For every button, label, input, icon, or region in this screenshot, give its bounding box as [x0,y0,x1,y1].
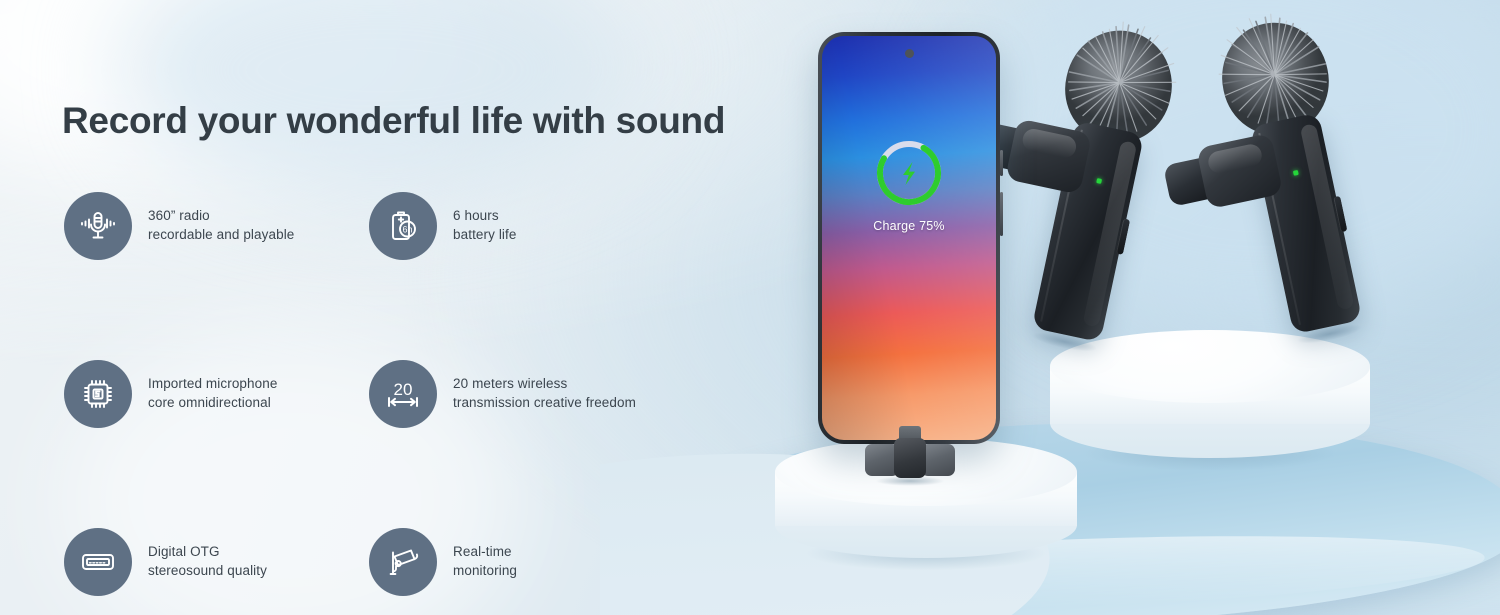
status-led-right [1292,170,1298,176]
feature-line1: Imported microphone [148,376,277,391]
battery-hours-text: 6h [402,224,412,234]
lightning-bolt-icon [903,162,915,185]
feature-line1: 6 hours [453,208,499,223]
phone-screen[interactable]: Charge 75% [822,36,996,440]
phone-button-power[interactable] [1000,192,1003,236]
feature-line2: monitoring [453,562,517,581]
feature-text: Real-time monitoring [453,543,517,580]
distance-meters-text: 20 [394,380,413,399]
front-camera-icon [905,49,914,58]
feature-line2: core omnidirectional [148,394,277,413]
feature-line1: Real-time [453,544,512,559]
battery-6h-icon: 6h [369,192,437,260]
feature-item-imported-microphone: Imported microphone core omnidirectional [64,360,369,428]
feature-text: 6 hours battery life [453,207,516,244]
feature-item-digital-otg: Digital OTG stereosound quality [64,528,369,596]
product-scene: Charge 75% [600,0,1500,615]
receiver-dongle [865,438,955,478]
phone-button-volume[interactable] [1000,150,1003,176]
feature-line2: stereosound quality [148,562,267,581]
charging-indicator: Charge 75% [822,136,996,233]
feature-line1: 360” radio [148,208,210,223]
chip-icon [64,360,132,428]
distance-20m-icon: 20 [369,360,437,428]
feature-text: 360” radio recordable and playable [148,207,294,244]
charge-progress-ring [872,136,946,210]
microphone-soundwave-icon [64,192,132,260]
smartphone: Charge 75% [818,32,1000,444]
usb-port-icon [64,528,132,596]
feature-text: Imported microphone core omnidirectional [148,375,277,412]
feature-item-360-radio: 360” radio recordable and playable [64,192,369,260]
feature-text: Digital OTG stereosound quality [148,543,267,580]
feature-line2: recordable and playable [148,226,294,245]
feature-line1: 20 meters wireless [453,376,567,391]
background-glow-top-left [0,0,470,180]
security-camera-icon [369,528,437,596]
status-led-left [1096,178,1102,184]
feature-line1: Digital OTG [148,544,220,559]
charge-label: Charge 75% [873,219,945,233]
feature-line2: battery life [453,226,516,245]
